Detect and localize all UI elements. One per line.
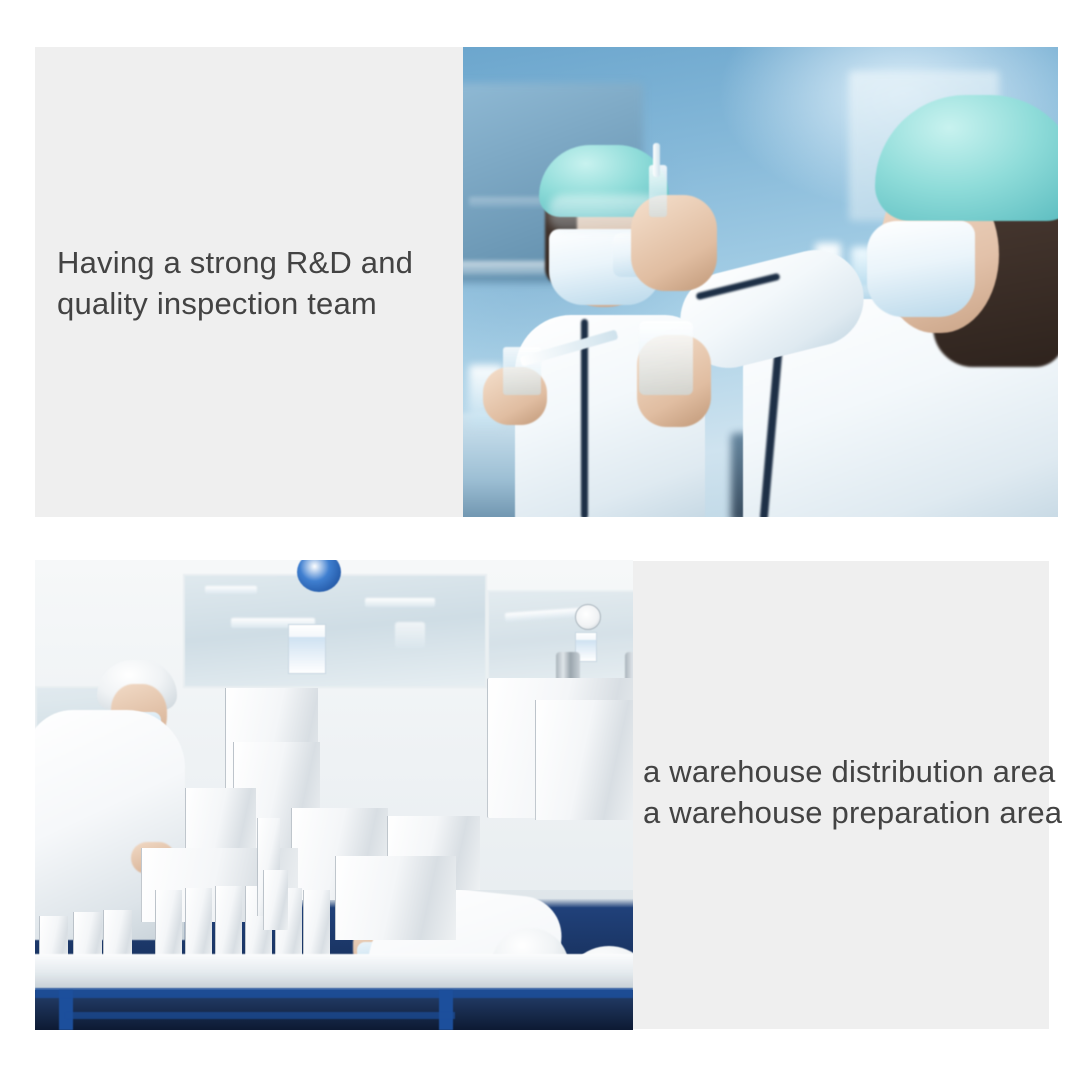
carton-upright-2 (185, 888, 212, 962)
carton-upright-solo (263, 870, 288, 930)
carton-block-far-right (335, 856, 456, 940)
sample-vial-lower (639, 321, 693, 395)
carton-upright-1 (155, 890, 182, 962)
carton-upright-6 (303, 890, 330, 962)
ceiling-lamp-c (365, 598, 435, 607)
table-frame-leg-right (439, 990, 453, 1030)
wall-notice-poster (288, 624, 326, 674)
vial-needle (653, 143, 660, 177)
poster-canvas: Having a strong R&D and quality inspecti… (0, 0, 1080, 1080)
table-frame-rail (35, 988, 633, 998)
wall-clock-face (575, 604, 601, 630)
ceiling-lamp-a (205, 586, 257, 594)
carton-upright-3 (215, 886, 242, 962)
carton-stack-rear-2 (535, 700, 633, 820)
ceiling-lamp-e (395, 622, 425, 648)
lab-inspection-photo (463, 47, 1058, 517)
technician-b-mask (867, 221, 975, 317)
warehouse-packing-photo (35, 560, 633, 1030)
table-frame-cross (65, 1012, 455, 1019)
bottom-caption-text: a warehouse distribution area a warehous… (643, 752, 1063, 833)
technician-b-hand-raised (631, 195, 717, 291)
top-caption-text: Having a strong R&D and quality inspecti… (57, 243, 457, 324)
